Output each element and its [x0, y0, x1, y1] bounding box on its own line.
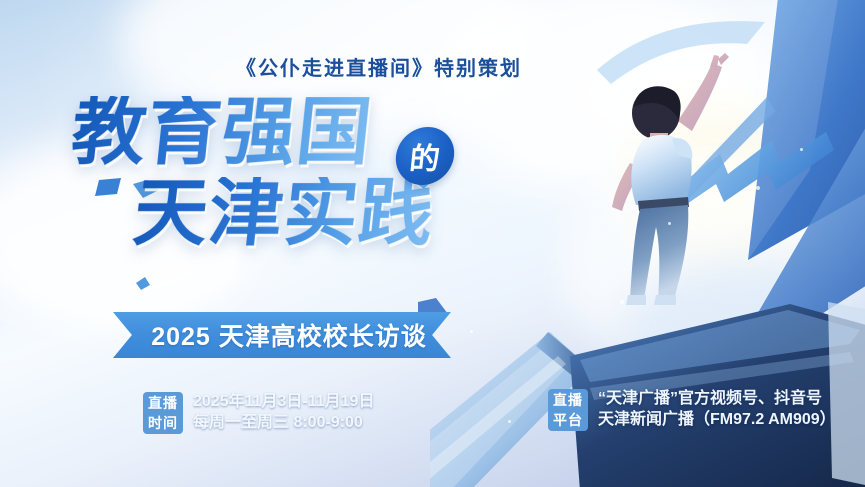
broadcast-time-tag: 直播 时间: [143, 392, 183, 434]
sparkle-dot: [620, 300, 624, 304]
poster-root: 《公仆走进直播间》特别策划 教育强国 天津实践 的 2025 天津高校校长访谈 …: [0, 0, 865, 487]
broadcast-time-lines: 2025年11月3日-11月19日 每周一至周三 8:00-9:00: [193, 392, 374, 434]
program-ribbon-banner: 2025 天津高校校长访谈: [113, 312, 451, 358]
folded-page-icon: [676, 128, 836, 218]
flying-page-icon: [690, 0, 865, 280]
sparkle-dot: [800, 148, 803, 151]
sparkle-dot: [756, 186, 760, 190]
cloud-decoration: [560, 150, 860, 380]
sun-glow-decoration: [600, 80, 830, 310]
student-figure-illustration: [600, 55, 780, 315]
confetti-shape: [136, 277, 150, 296]
sparkle-dot: [470, 330, 473, 333]
paper-sliver-icon: [655, 95, 775, 225]
ribbon-label: 2025 天津高校校长访谈: [137, 317, 427, 353]
main-title-line-2: 天津实践: [130, 177, 438, 250]
broadcast-platform-block: 直播 平台 “天津广播”官方视频号、抖音号 天津新闻广播（FM97.2 AM90…: [548, 389, 836, 431]
broadcast-platform-channels: “天津广播”官方视频号、抖音号: [598, 389, 836, 410]
broadcast-platform-radio: 天津新闻广播（FM97.2 AM909）: [598, 410, 836, 431]
broadcast-platform-lines: “天津广播”官方视频号、抖音号 天津新闻广播（FM97.2 AM909）: [598, 389, 836, 431]
broadcast-time-schedule: 每周一至周三 8:00-9:00: [193, 413, 374, 434]
broadcast-time-block: 直播 时间 2025年11月3日-11月19日 每周一至周三 8:00-9:00: [143, 392, 374, 434]
sparkle-dot: [508, 420, 511, 423]
broadcast-platform-tag-line-2: 平台: [553, 410, 583, 430]
broadcast-platform-tag-line-1: 直播: [553, 390, 583, 410]
paper-sliver-icon: [597, 18, 767, 88]
broadcast-time-tag-line-1: 直播: [148, 393, 178, 413]
flying-page-icon: [745, 120, 865, 350]
program-eyebrow-title: 《公仆走进直播间》特别策划: [236, 52, 522, 81]
broadcast-time-tag-line-2: 时间: [148, 413, 178, 433]
sparkle-dot: [722, 106, 725, 109]
sparkle-dot: [668, 222, 671, 225]
main-title-line-1: 教育强国: [68, 96, 376, 169]
broadcast-platform-tag: 直播 平台: [548, 389, 588, 431]
broadcast-time-dates: 2025年11月3日-11月19日: [193, 392, 374, 413]
